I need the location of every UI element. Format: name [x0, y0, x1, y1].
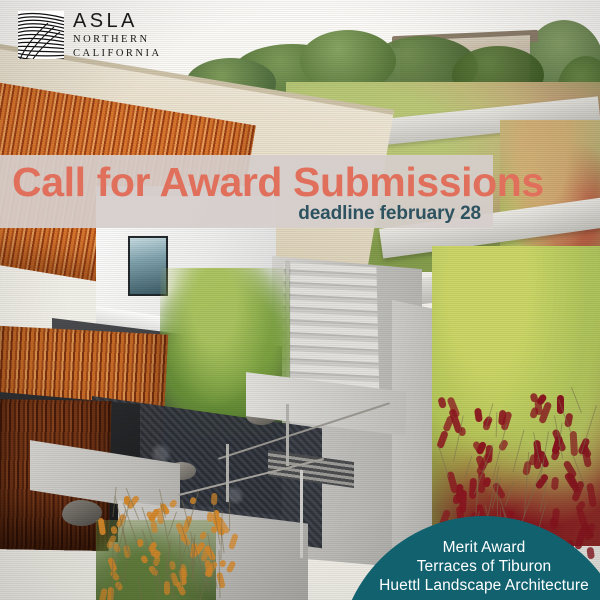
banner-deadline: deadline february 28 [298, 203, 481, 225]
asla-wordmark: ASLA [73, 11, 162, 31]
flower-spike [207, 512, 213, 522]
flower-spike [586, 547, 595, 560]
poster-canvas: ASLA NORTHERN CALIFORNIA Call for Award … [0, 0, 600, 600]
stair-handrail [300, 470, 303, 558]
background-photograph [0, 0, 600, 600]
asla-chapter-line-1: NORTHERN [73, 35, 162, 46]
flower-spike [551, 476, 559, 489]
award-line-1: Merit Award [443, 538, 526, 557]
asla-logo-text: ASLA NORTHERN CALIFORNIA [73, 11, 162, 59]
award-line-2: Terraces of Tiburon [417, 557, 552, 576]
plant-stem [229, 500, 230, 530]
call-for-submissions-banner: Call for Award Submissions deadline febr… [0, 155, 493, 228]
guardrail-post [226, 444, 229, 502]
banner-headline: Call for Award Submissions [12, 159, 544, 206]
asla-chapter-line-2: CALIFORNIA [73, 49, 162, 60]
guardrail-post [286, 404, 289, 466]
asla-logo[interactable]: ASLA NORTHERN CALIFORNIA [18, 11, 162, 59]
asla-contour-lines-mark [18, 11, 64, 59]
award-line-3: Huettl Landscape Architecture [379, 576, 589, 595]
